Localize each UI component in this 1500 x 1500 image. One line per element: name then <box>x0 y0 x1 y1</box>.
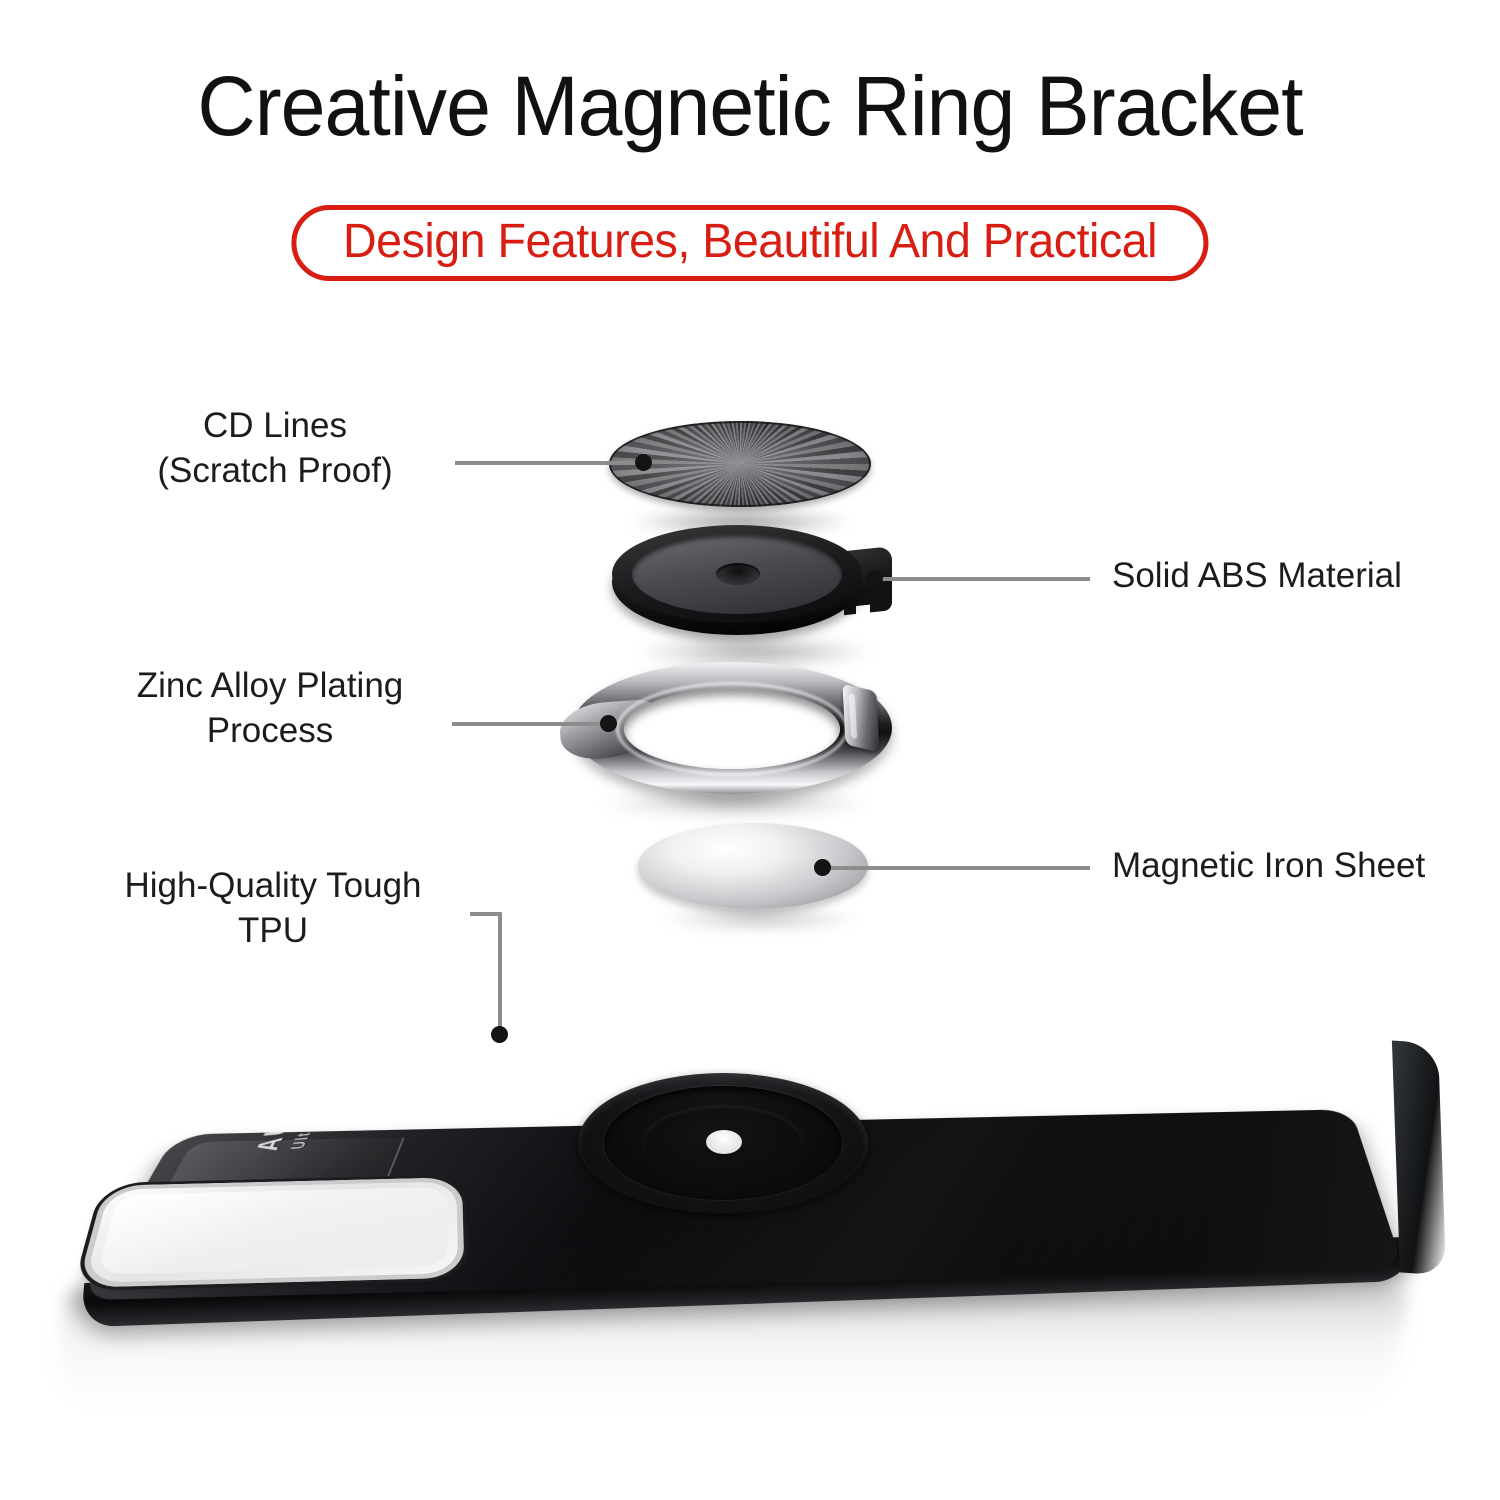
ring-mount-center-dot <box>706 1130 742 1154</box>
leader-dot-zinc-alloy <box>600 715 617 732</box>
zinc-alloy-ring-part <box>572 662 892 794</box>
phone-case-camera-cutout <box>85 1181 459 1283</box>
callout-label-solid-abs: Solid ABS Material <box>1112 554 1500 599</box>
phone-case-ring-mount <box>578 1073 868 1213</box>
leader-dot-tpu <box>491 1026 508 1043</box>
leader-line-magnetic-iron <box>828 866 1090 870</box>
zinc-ring-highlight <box>616 682 848 776</box>
subtitle-text: Design Features, Beautiful And Practical <box>343 214 1157 269</box>
leader-line-cd-lines <box>455 461 645 465</box>
leader-dot-magnetic-iron <box>814 859 831 876</box>
infographic-canvas: Creative Magnetic Ring Bracket Design Fe… <box>0 0 1500 1500</box>
leader-dot-cd-lines <box>635 454 652 471</box>
leader-line-tpu-vertical <box>498 912 502 1032</box>
subtitle-pill: Design Features, Beautiful And Practical <box>291 205 1208 281</box>
abs-housing-center-hole <box>716 563 760 585</box>
leader-line-zinc-alloy <box>452 722 610 726</box>
callout-label-cd-lines: CD Lines (Scratch Proof) <box>100 404 450 494</box>
page-title: Creative Magnetic Ring Bracket <box>30 62 1470 150</box>
callout-label-zinc-alloy: Zinc Alloy Plating Process <box>90 664 450 754</box>
callout-label-tpu: High-Quality Tough TPU <box>78 864 468 954</box>
leader-dot-solid-abs <box>866 570 883 587</box>
zinc-ring-hinge <box>842 684 879 753</box>
leader-line-solid-abs <box>880 577 1090 581</box>
callout-label-magnetic-iron: Magnetic Iron Sheet <box>1112 844 1500 889</box>
phone-case-right-edge <box>1392 1040 1446 1275</box>
abs-housing-part <box>612 525 902 645</box>
